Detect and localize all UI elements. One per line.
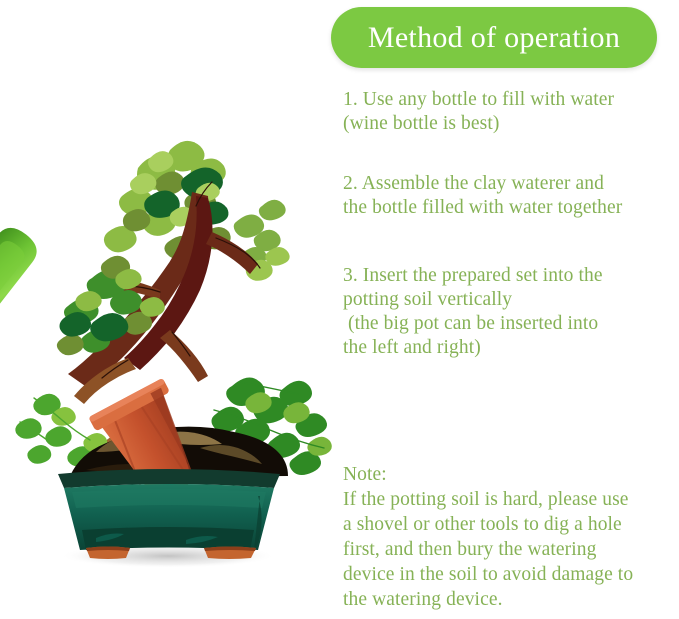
note-heading: Note: bbox=[343, 462, 679, 487]
bonsai-illustration bbox=[0, 0, 340, 619]
note-line-4: device in the soil to avoid damage to bbox=[343, 562, 679, 587]
step-3-line-1: 3. Insert the prepared set into the bbox=[343, 264, 679, 288]
method-of-operation-badge: Method of operation bbox=[331, 7, 657, 68]
step-3-line-2: potting soil vertically bbox=[343, 288, 679, 312]
note-line-5: the watering device. bbox=[343, 587, 679, 612]
step-3: 3. Insert the prepared set into the pott… bbox=[343, 264, 679, 360]
note-line-1: If the potting soil is hard, please use bbox=[343, 487, 679, 512]
step-3-line-3: (the big pot can be inserted into bbox=[343, 312, 679, 336]
product-instruction-card: Method of operation 1. Use any bottle to… bbox=[0, 0, 679, 619]
step-2: 2. Assemble the clay waterer and the bot… bbox=[343, 172, 679, 220]
note-line-2: a shovel or other tools to dig a hole bbox=[343, 512, 679, 537]
bonsai-pot bbox=[58, 469, 280, 559]
step-1-line-1: 1. Use any bottle to fill with water bbox=[343, 88, 679, 112]
page-title: Method of operation bbox=[368, 23, 620, 53]
step-2-line-2: the bottle filled with water together bbox=[343, 196, 679, 220]
note-line-3: first, and then bury the watering bbox=[343, 537, 679, 562]
step-2-line-1: 2. Assemble the clay waterer and bbox=[343, 172, 679, 196]
step-1: 1. Use any bottle to fill with water (wi… bbox=[343, 88, 679, 136]
note-block: Note: If the potting soil is hard, pleas… bbox=[343, 462, 679, 612]
step-3-line-4: the left and right) bbox=[343, 336, 679, 360]
instructions-panel: Method of operation 1. Use any bottle to… bbox=[331, 0, 679, 619]
step-1-line-2: (wine bottle is best) bbox=[343, 112, 679, 136]
